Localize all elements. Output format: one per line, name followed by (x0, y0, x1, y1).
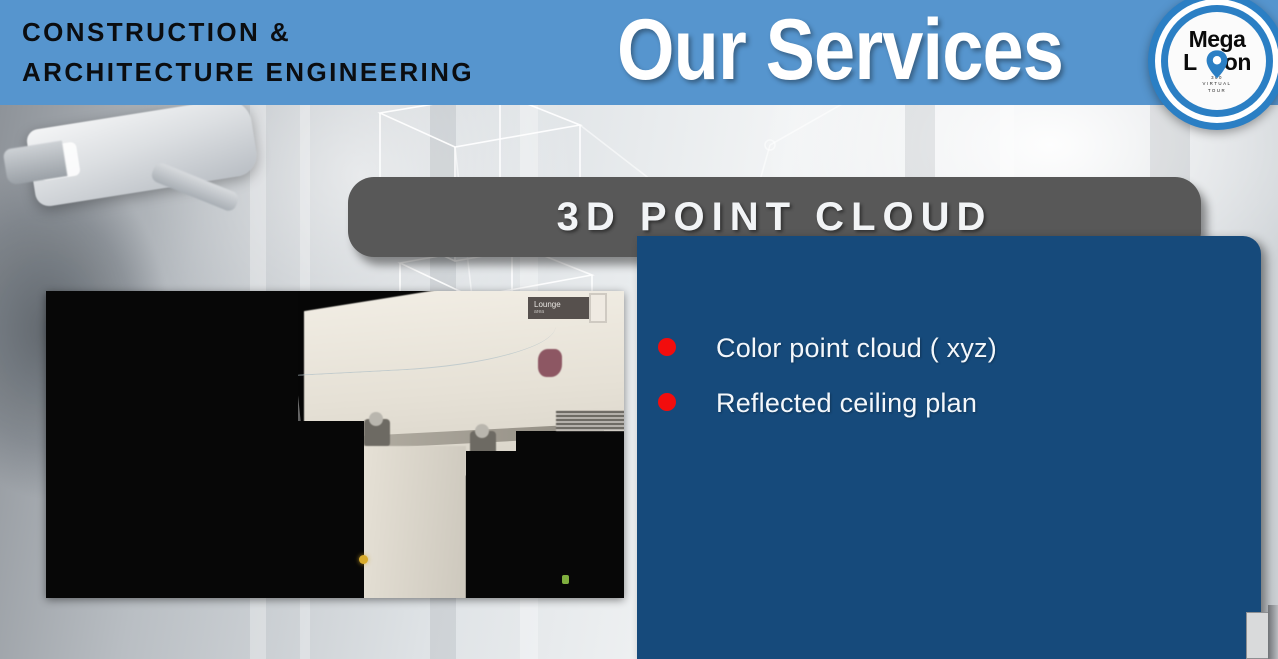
video-green-object (562, 575, 569, 584)
video-shadow-region (466, 451, 624, 598)
logo-name-top: Mega (1189, 28, 1246, 50)
company-line-2: ARCHITECTURE ENGINEERING (22, 52, 582, 92)
video-lounge-sign: Lounge area (528, 297, 598, 319)
list-item: Color point cloud ( xyz) (658, 329, 1241, 367)
video-shadow-region (46, 291, 298, 598)
logo-tagline-line-2: VIRTUAL (1203, 81, 1232, 88)
video-fixture-clip (364, 419, 390, 447)
video-vent-grate (556, 411, 624, 431)
map-pin-icon (1206, 50, 1228, 78)
slide-stage: CONSTRUCTION & ARCHITECTURE ENGINEERING … (0, 0, 1278, 659)
page-title: Our Services (599, 0, 1081, 102)
video-shadow-region (516, 431, 624, 471)
logo-name-bottom: Lodon (1183, 50, 1251, 74)
video-shadow-region (276, 421, 364, 598)
video-sign-label: Lounge (534, 300, 561, 309)
bullet-dot-icon (658, 393, 676, 411)
point-cloud-video[interactable]: Lounge area (46, 291, 624, 598)
logo-tagline-line-3: TOUR (1203, 88, 1232, 95)
slide-header: CONSTRUCTION & ARCHITECTURE ENGINEERING … (0, 0, 1278, 105)
video-wall-frame (589, 293, 607, 323)
company-name: CONSTRUCTION & ARCHITECTURE ENGINEERING (22, 12, 582, 92)
watermark-edge-strip (1268, 605, 1278, 659)
bullet-dot-icon (658, 338, 676, 356)
company-line-1: CONSTRUCTION & (22, 12, 582, 52)
list-item-label: Reflected ceiling plan (716, 384, 977, 422)
logo-name-bottom-left: L (1183, 49, 1197, 75)
video-marker-dot (359, 555, 368, 564)
video-red-object (538, 349, 562, 377)
video-column (348, 446, 466, 598)
list-item: Reflected ceiling plan (658, 384, 1241, 422)
section-title: 3D POINT CLOUD (557, 195, 993, 240)
list-item-label: Color point cloud ( xyz) (716, 329, 997, 367)
logo-core: Mega Lodon 360 VIRTUAL TOUR (1168, 12, 1266, 110)
features-panel: Color point cloud ( xyz) Reflected ceili… (637, 236, 1261, 659)
features-list: Color point cloud ( xyz) Reflected ceili… (658, 329, 1241, 439)
